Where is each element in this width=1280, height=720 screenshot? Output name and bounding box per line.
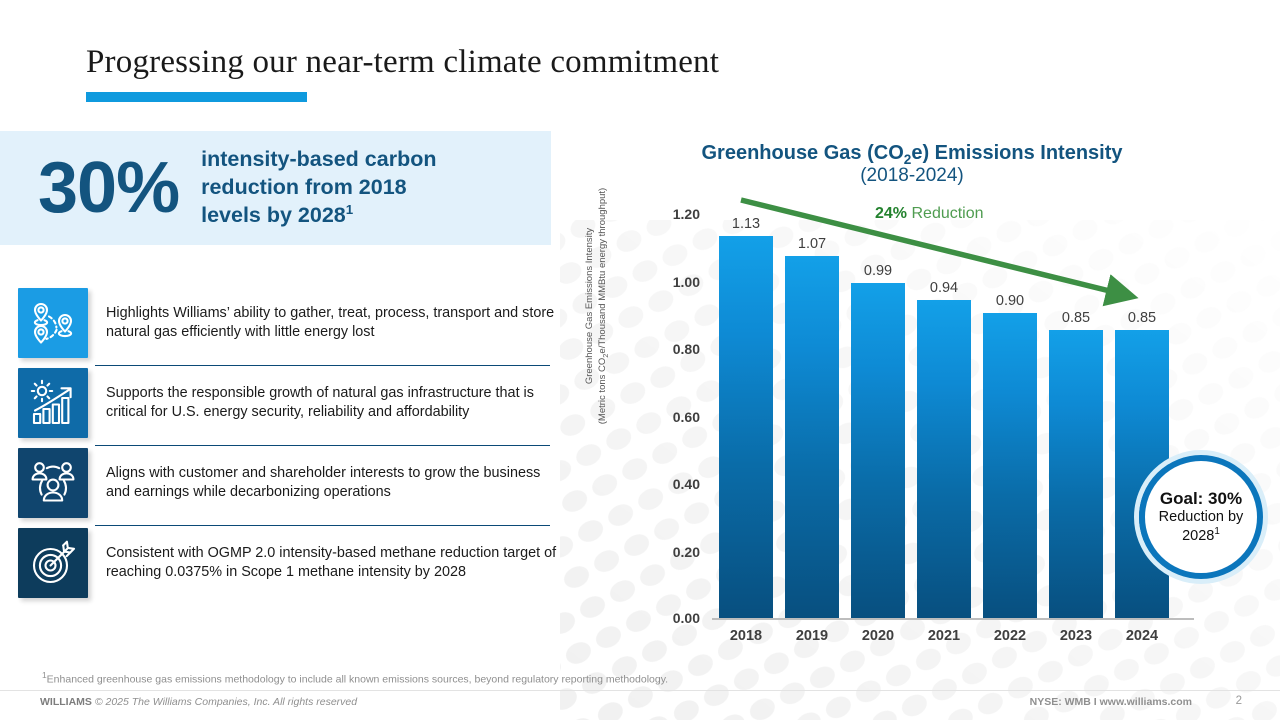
- x-axis-tick: 2018: [712, 628, 780, 644]
- goal-sub-line-1: Reduction by: [1159, 509, 1244, 525]
- footnote: 1Enhanced greenhouse gas emissions metho…: [42, 670, 668, 686]
- bar-value-label: 0.90: [976, 293, 1044, 309]
- copyright-text: © 2025 The Williams Companies, Inc. All …: [92, 696, 357, 708]
- list-item: Highlights Williams’ ability to gather, …: [18, 288, 558, 368]
- list-divider: [95, 525, 550, 526]
- people-group-icon: [18, 448, 88, 518]
- hero-stat-description: intensity-based carbon reduction from 20…: [201, 146, 436, 230]
- hero-desc-line-1: intensity-based carbon: [201, 147, 436, 171]
- y-axis-tick: 0.60: [646, 409, 700, 425]
- goal-badge-subtext: Reduction by 20281: [1159, 509, 1244, 545]
- x-axis-tick: 2020: [844, 628, 912, 644]
- bar[interactable]: [917, 300, 971, 618]
- bar[interactable]: [851, 283, 905, 618]
- target-arrow-icon: [18, 528, 88, 598]
- bar-value-label: 0.85: [1108, 310, 1176, 326]
- emissions-intensity-chart: Greenhouse Gas (CO2e) Emissions Intensit…: [612, 136, 1212, 656]
- hero-footnote-marker: 1: [346, 202, 353, 217]
- reduction-label: Reduction: [911, 205, 983, 222]
- list-item: Aligns with customer and shareholder int…: [18, 448, 558, 528]
- list-item-label: Aligns with customer and shareholder int…: [106, 464, 558, 503]
- list-item-label: Highlights Williams’ ability to gather, …: [106, 304, 558, 343]
- chart-subtitle: (2018-2024): [612, 165, 1212, 187]
- y-axis-tick: 0.00: [646, 610, 700, 626]
- chart-title-post: e) Emissions Intensity: [911, 142, 1122, 164]
- reduction-annotation: 24% Reduction: [875, 205, 984, 223]
- footer-divider: [0, 690, 1280, 691]
- list-item: Supports the responsible growth of natur…: [18, 368, 558, 448]
- bar[interactable]: [719, 236, 773, 618]
- chart-y-axis-label: Greenhouse Gas Emissions Intensity (Metr…: [584, 146, 611, 466]
- goal-sub-line-2: 2028: [1182, 528, 1214, 544]
- bar-value-label: 0.94: [910, 280, 978, 296]
- bar-value-label: 1.13: [712, 216, 780, 232]
- footer-copyright: WILLIAMS © 2025 The Williams Companies, …: [40, 696, 357, 708]
- y-axis-tick: 1.00: [646, 274, 700, 290]
- title-accent-bar: [86, 92, 307, 102]
- location-pins-network-icon: [18, 288, 88, 358]
- hero-stat-value: 30%: [38, 152, 179, 224]
- list-divider: [95, 365, 550, 366]
- y-axis-tick: 1.20: [646, 206, 700, 222]
- y-axis-label-line-1: Greenhouse Gas Emissions Intensity: [584, 228, 595, 384]
- y-axis-tick: 0.20: [646, 544, 700, 560]
- x-axis-tick: 2024: [1108, 628, 1176, 644]
- chart-plot-area: 1.13 1.07 0.99 0.94 0.90 0.85: [712, 212, 1192, 618]
- goal-badge-headline: Goal: 30%: [1160, 489, 1242, 509]
- x-axis-tick: 2022: [976, 628, 1044, 644]
- page-title: Progressing our near-term climate commit…: [86, 44, 719, 81]
- bar[interactable]: [1049, 330, 1103, 618]
- bar[interactable]: [983, 313, 1037, 618]
- bar-value-label: 0.99: [844, 263, 912, 279]
- reduction-percent: 24%: [875, 205, 907, 222]
- footer-ticker-and-site: NYSE: WMB I www.williams.com: [1030, 696, 1192, 708]
- bar-value-label: 1.07: [778, 236, 846, 252]
- hero-desc-line-3: levels by 2028: [201, 203, 346, 227]
- list-item: Consistent with OGMP 2.0 intensity-based…: [18, 528, 558, 608]
- list-divider: [95, 445, 550, 446]
- goal-badge-inner: Goal: 30% Reduction by 20281: [1139, 455, 1263, 579]
- chart-x-axis-line: [712, 618, 1194, 620]
- x-axis-tick: 2019: [778, 628, 846, 644]
- bar[interactable]: [785, 256, 839, 618]
- y-axis-tick: 0.40: [646, 476, 700, 492]
- hero-desc-line-2: reduction from 2018: [201, 175, 407, 199]
- chart-title-pre: Greenhouse Gas (CO: [701, 142, 903, 164]
- footnote-text: Enhanced greenhouse gas emissions method…: [47, 674, 668, 686]
- list-item-label: Consistent with OGMP 2.0 intensity-based…: [106, 544, 558, 583]
- slide-canvas: Progressing our near-term climate commit…: [0, 0, 1280, 720]
- page-number: 2: [1236, 695, 1242, 707]
- x-axis-tick: 2021: [910, 628, 978, 644]
- y-axis-tick: 0.80: [646, 341, 700, 357]
- goal-badge: Goal: 30% Reduction by 20281: [1134, 450, 1268, 584]
- list-item-label: Supports the responsible growth of natur…: [106, 384, 558, 423]
- y-axis-label-sub: 2: [601, 354, 610, 358]
- brand-wordmark: WILLIAMS: [40, 696, 92, 708]
- y-axis-label-line-2-pre: (Metric tons CO: [597, 358, 608, 425]
- gear-growth-chart-icon: [18, 368, 88, 438]
- hero-stat-panel: 30% intensity-based carbon reduction fro…: [0, 131, 551, 245]
- benefits-list: Highlights Williams’ ability to gather, …: [18, 288, 558, 608]
- goal-footnote-marker: 1: [1214, 526, 1219, 537]
- bar-value-label: 0.85: [1042, 310, 1110, 326]
- x-axis-tick: 2023: [1042, 628, 1110, 644]
- y-axis-label-line-2-post: e/Thousand MMBtu energy throughput): [597, 188, 608, 354]
